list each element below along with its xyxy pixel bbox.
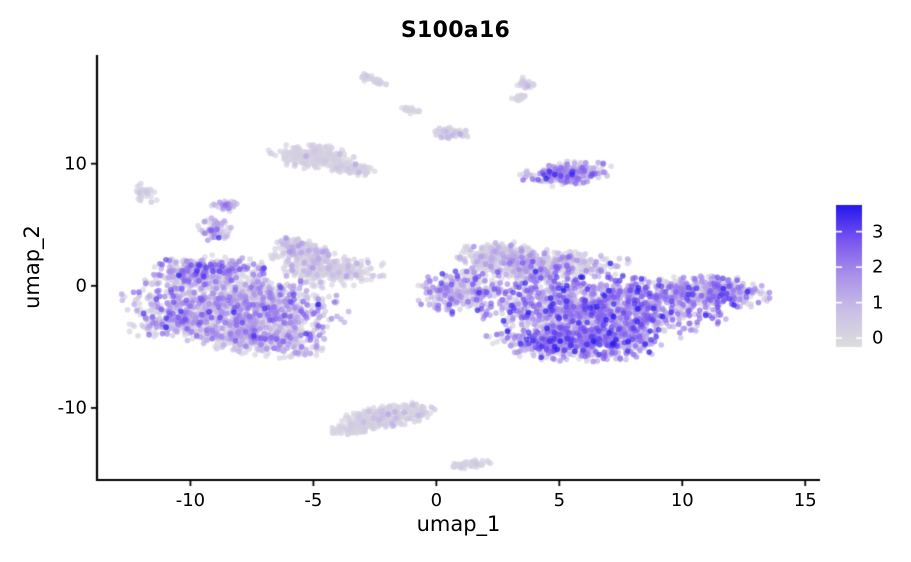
scatter-plot-canvas	[0, 0, 911, 562]
umap-feature-plot-figure: S100a16 umap_1 umap_2 -10-5051015 100-10…	[0, 0, 911, 562]
